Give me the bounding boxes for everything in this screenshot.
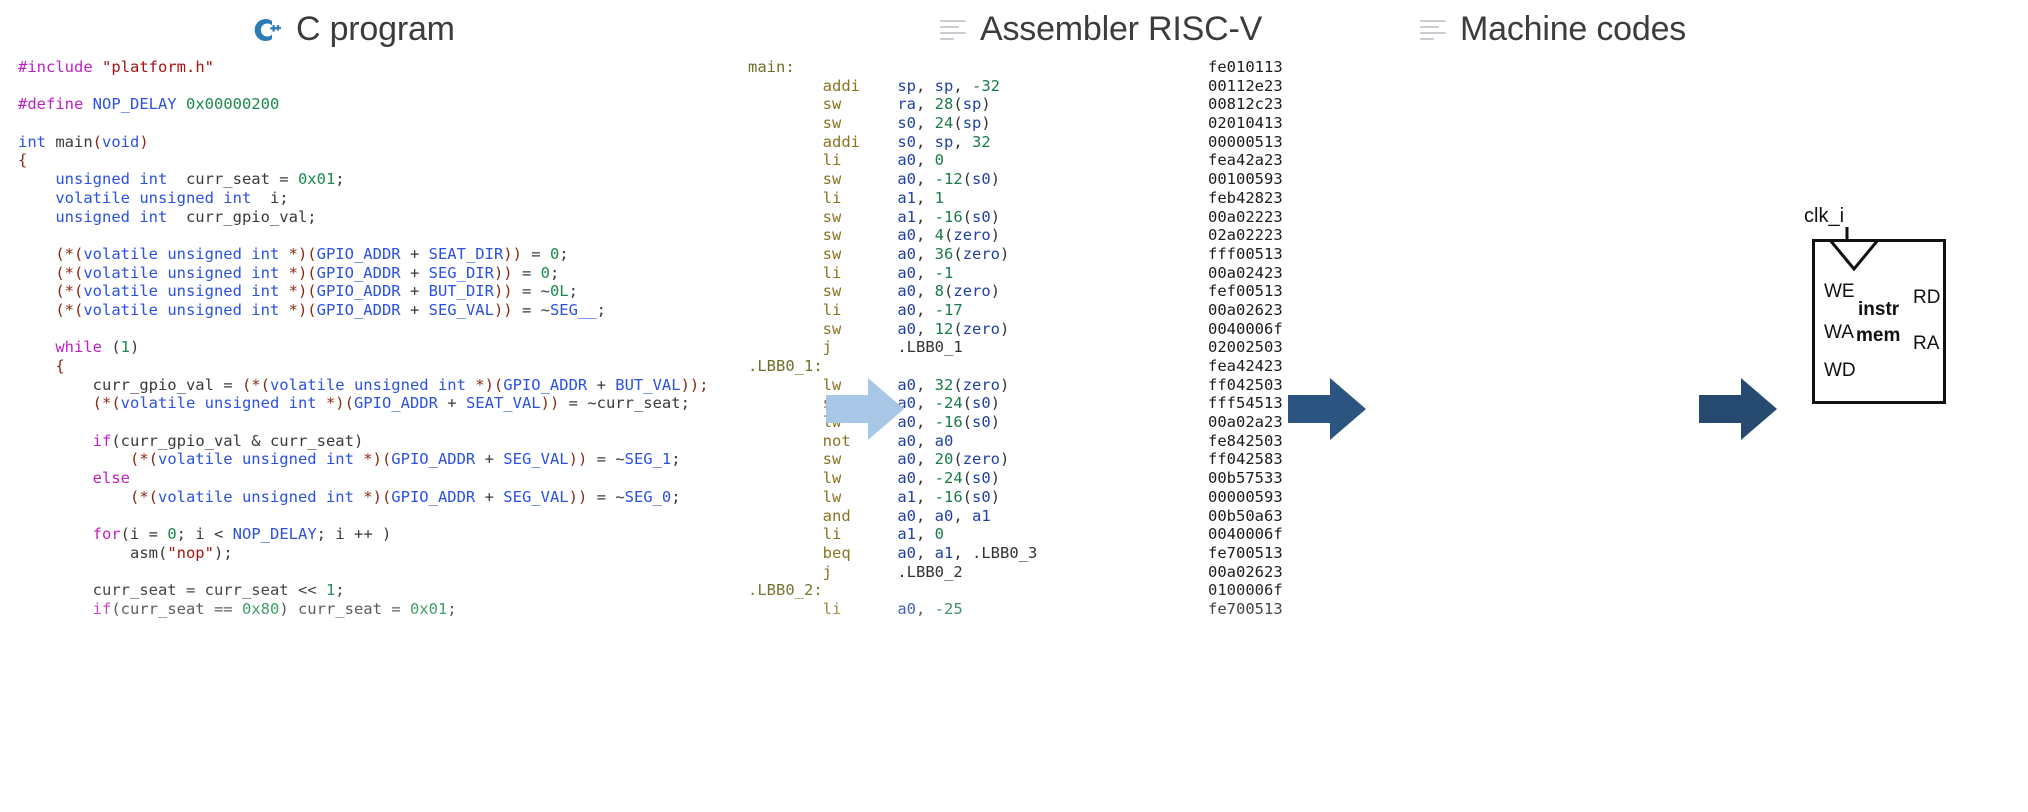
machine-code-line: fea42a23 bbox=[1208, 151, 1283, 170]
code-token: ) bbox=[991, 394, 1000, 412]
c-code-line: #define NOP_DELAY 0x00000200 bbox=[18, 95, 709, 114]
code-token: zero bbox=[953, 226, 990, 244]
code-token bbox=[18, 600, 93, 618]
c-code-line bbox=[18, 77, 709, 96]
code-token: { bbox=[18, 151, 27, 169]
code-token bbox=[18, 264, 55, 282]
c-code-line: (*(volatile unsigned int *)(GPIO_ADDR + … bbox=[18, 394, 709, 413]
code-token: ) bbox=[991, 226, 1000, 244]
code-token: ( bbox=[963, 394, 972, 412]
code-token: 24 bbox=[935, 114, 954, 132]
code-token: (*( bbox=[55, 282, 83, 300]
code-token: for bbox=[93, 525, 121, 543]
code-token: GPIO_ADDR bbox=[391, 450, 475, 468]
code-token: curr_gpio_val = bbox=[18, 376, 242, 394]
c-code-line: for(i = 0; i < NOP_DELAY; i ++ ) bbox=[18, 525, 709, 544]
code-token: 32 bbox=[972, 133, 991, 151]
code-token: sw bbox=[823, 170, 842, 188]
asm-code-line: lw a0, -24(s0) bbox=[748, 469, 1037, 488]
machine-code-line: 00b50a63 bbox=[1208, 507, 1283, 526]
machine-code-line: 02a02223 bbox=[1208, 226, 1283, 245]
code-token: 0 bbox=[167, 525, 176, 543]
code-token: and bbox=[823, 507, 851, 525]
code-token: a1 bbox=[897, 488, 916, 506]
code-token: ( bbox=[953, 95, 962, 113]
header-assembler: Assembler RISC-V bbox=[940, 10, 1262, 49]
code-token: *)( bbox=[354, 450, 391, 468]
code-token: , bbox=[916, 95, 935, 113]
code-token: -16 bbox=[935, 413, 963, 431]
code-token bbox=[841, 301, 897, 319]
code-token bbox=[748, 525, 823, 543]
code-token: sw bbox=[823, 282, 842, 300]
code-token: j bbox=[823, 563, 832, 581]
code-token: .LBB0_3 bbox=[972, 544, 1037, 562]
code-token: *)( bbox=[279, 282, 316, 300]
code-token: if bbox=[93, 600, 112, 618]
code-token: , bbox=[916, 151, 935, 169]
code-token: sw bbox=[823, 226, 842, 244]
header-c-program: C program bbox=[252, 10, 455, 49]
header-title-machine: Machine codes bbox=[1460, 10, 1686, 49]
pin-rd: RD bbox=[1913, 287, 1940, 309]
code-token: ; i < bbox=[177, 525, 233, 543]
code-token: -24 bbox=[935, 394, 963, 412]
c-code-line: while (1) bbox=[18, 338, 709, 357]
c-code-line: unsigned int curr_gpio_val; bbox=[18, 208, 709, 227]
code-token: )) bbox=[494, 264, 513, 282]
c-code-line bbox=[18, 320, 709, 339]
code-token: unsigned int bbox=[55, 170, 167, 188]
code-token: void bbox=[102, 133, 139, 151]
code-token: , bbox=[916, 282, 935, 300]
code-token bbox=[748, 245, 823, 263]
code-token: li bbox=[823, 189, 842, 207]
assembler-source-pane: main: addi sp, sp, -32 sw ra, 28(sp) sw … bbox=[748, 58, 1037, 619]
code-token: 0x00000200 bbox=[186, 95, 279, 113]
code-token: + bbox=[401, 282, 429, 300]
code-token: )) bbox=[569, 450, 588, 468]
code-token: , bbox=[916, 413, 935, 431]
c-code-line bbox=[18, 413, 709, 432]
code-token bbox=[748, 413, 823, 431]
c-code-line: unsigned int curr_seat = 0x01; bbox=[18, 170, 709, 189]
c-code-line bbox=[18, 226, 709, 245]
header-title-c: C program bbox=[296, 10, 455, 49]
code-token: ( bbox=[953, 245, 962, 263]
code-token: , bbox=[953, 544, 972, 562]
c-code-line: (*(volatile unsigned int *)(GPIO_ADDR + … bbox=[18, 301, 709, 320]
code-token: )) bbox=[494, 301, 513, 319]
code-token: GPIO_ADDR bbox=[317, 245, 401, 263]
c-code-line: int main(void) bbox=[18, 133, 709, 152]
machine-code-line: 00a02623 bbox=[1208, 563, 1283, 582]
code-token: GPIO_ADDR bbox=[391, 488, 475, 506]
c-code-line: (*(volatile unsigned int *)(GPIO_ADDR + … bbox=[18, 245, 709, 264]
code-token: s0 bbox=[897, 114, 916, 132]
asm-code-line: sw s0, 24(sp) bbox=[748, 114, 1037, 133]
memory-block-title-line2: mem bbox=[1856, 326, 1900, 346]
code-token bbox=[748, 469, 823, 487]
code-token bbox=[851, 544, 898, 562]
code-token: volatile unsigned int bbox=[121, 394, 317, 412]
code-token bbox=[841, 208, 897, 226]
machine-code-line: fe842503 bbox=[1208, 432, 1283, 451]
code-token: volatile unsigned int bbox=[83, 301, 279, 319]
code-token: curr_seat = curr_seat << bbox=[18, 581, 326, 599]
code-token: ; bbox=[671, 488, 680, 506]
code-token: -32 bbox=[972, 77, 1000, 95]
code-token bbox=[748, 563, 823, 581]
code-token: a1 bbox=[897, 189, 916, 207]
code-token: )); bbox=[681, 376, 709, 394]
code-token: s0 bbox=[972, 469, 991, 487]
code-token: , bbox=[916, 376, 935, 394]
code-token: (*( bbox=[242, 376, 270, 394]
code-token: ) bbox=[139, 133, 148, 151]
code-token: 0 bbox=[541, 264, 550, 282]
code-token: (i = bbox=[121, 525, 168, 543]
code-token: -24 bbox=[935, 469, 963, 487]
code-token: GPIO_ADDR bbox=[503, 376, 587, 394]
code-token: s0 bbox=[972, 488, 991, 506]
code-token: , bbox=[916, 432, 935, 450]
code-token: s0 bbox=[972, 413, 991, 431]
code-token: i; bbox=[251, 189, 288, 207]
c-code-line: else bbox=[18, 469, 709, 488]
code-token: zero bbox=[963, 320, 1000, 338]
code-token: *)( bbox=[317, 394, 354, 412]
code-token: sw bbox=[823, 208, 842, 226]
code-token: )) bbox=[503, 245, 522, 263]
code-token: , bbox=[916, 208, 935, 226]
code-token: , bbox=[916, 189, 935, 207]
code-token: sw bbox=[823, 245, 842, 263]
code-token: ; bbox=[559, 245, 568, 263]
code-token: ( bbox=[953, 114, 962, 132]
arrow-asm-to-machine bbox=[1288, 378, 1366, 440]
code-token: , bbox=[916, 77, 935, 95]
code-token: .LBB0_1 bbox=[897, 338, 962, 356]
machine-code-line: fe700513 bbox=[1208, 544, 1283, 563]
code-token: (*( bbox=[55, 245, 83, 263]
code-token: BUT_VAL bbox=[615, 376, 680, 394]
code-token: SEAT_DIR bbox=[429, 245, 504, 263]
code-token: ; bbox=[550, 264, 559, 282]
code-token: , bbox=[916, 133, 935, 151]
code-token bbox=[841, 245, 897, 263]
code-token: 0 bbox=[935, 525, 944, 543]
code-token: sp bbox=[935, 77, 954, 95]
instruction-memory-block: clk_i WE WA WD RD RA instr mem bbox=[1812, 205, 2002, 415]
code-token: + bbox=[587, 376, 615, 394]
asm-code-line: sw a0, 36(zero) bbox=[748, 245, 1037, 264]
machine-code-line: ff042503 bbox=[1208, 376, 1283, 395]
code-token: -16 bbox=[935, 208, 963, 226]
code-token: (*( bbox=[130, 488, 158, 506]
c-code-line: (*(volatile unsigned int *)(GPIO_ADDR + … bbox=[18, 282, 709, 301]
code-token: 0L bbox=[550, 282, 569, 300]
code-token: if bbox=[93, 432, 112, 450]
code-token: curr_gpio_val; bbox=[167, 208, 316, 226]
code-token: sw bbox=[823, 95, 842, 113]
c-code-line: (*(volatile unsigned int *)(GPIO_ADDR + … bbox=[18, 450, 709, 469]
text-lines-icon bbox=[1420, 17, 1446, 43]
header-machine-codes: Machine codes bbox=[1420, 10, 1686, 49]
code-token: = ~curr_seat; bbox=[559, 394, 690, 412]
code-token: SEG__ bbox=[550, 301, 597, 319]
code-token: + bbox=[475, 488, 503, 506]
code-token: = bbox=[513, 264, 541, 282]
code-token: unsigned int bbox=[55, 208, 167, 226]
machine-code-line: 00112e23 bbox=[1208, 77, 1283, 96]
code-token: , bbox=[916, 525, 935, 543]
code-token: , bbox=[916, 600, 935, 618]
machine-code-line: 0040006f bbox=[1208, 320, 1283, 339]
code-token: -12 bbox=[935, 170, 963, 188]
code-token: SEG_VAL bbox=[503, 488, 568, 506]
code-token: a0 bbox=[897, 450, 916, 468]
code-token: (*( bbox=[55, 301, 83, 319]
code-token: (curr_seat == bbox=[111, 600, 242, 618]
code-token: *)( bbox=[279, 264, 316, 282]
code-token: 0x01 bbox=[298, 170, 335, 188]
code-token: volatile unsigned int bbox=[158, 450, 354, 468]
code-token bbox=[18, 469, 93, 487]
code-token: , bbox=[916, 507, 935, 525]
code-token bbox=[18, 208, 55, 226]
code-token bbox=[748, 282, 823, 300]
code-token bbox=[832, 563, 897, 581]
code-token bbox=[18, 394, 93, 412]
code-token bbox=[832, 338, 897, 356]
code-token bbox=[748, 488, 823, 506]
code-token bbox=[748, 301, 823, 319]
code-token: .LBB0_1: bbox=[748, 357, 823, 375]
code-token: , bbox=[916, 488, 935, 506]
code-token bbox=[748, 320, 823, 338]
code-token bbox=[841, 114, 897, 132]
pin-ra: RA bbox=[1913, 333, 1939, 355]
code-token: , bbox=[953, 507, 972, 525]
code-token bbox=[841, 264, 897, 282]
machine-code-line: 02002503 bbox=[1208, 338, 1283, 357]
code-token: = ~ bbox=[513, 282, 550, 300]
header-title-asm: Assembler RISC-V bbox=[980, 10, 1262, 49]
code-token: , bbox=[953, 77, 972, 95]
code-token bbox=[841, 189, 897, 207]
code-token: sp bbox=[935, 133, 954, 151]
c-code-line: volatile unsigned int i; bbox=[18, 189, 709, 208]
code-token: #define bbox=[18, 95, 93, 113]
code-token: a0 bbox=[897, 301, 916, 319]
c-code-line: if(curr_seat == 0x80) curr_seat = 0x01; bbox=[18, 600, 709, 619]
code-token: .LBB0_2 bbox=[897, 563, 962, 581]
code-token: 1 bbox=[935, 189, 944, 207]
asm-code-line: j .LBB0_1 bbox=[748, 338, 1037, 357]
code-token: ) bbox=[130, 338, 139, 356]
c-code-line: curr_gpio_val = (*(volatile unsigned int… bbox=[18, 376, 709, 395]
code-token: ) bbox=[1000, 450, 1009, 468]
code-token bbox=[748, 544, 823, 562]
code-token: li bbox=[823, 600, 842, 618]
code-token: = ~ bbox=[587, 450, 624, 468]
code-token: "nop" bbox=[167, 544, 214, 562]
code-token: , bbox=[916, 226, 935, 244]
machine-code-pane: fe01011300112e2300812c230201041300000513… bbox=[1208, 58, 1283, 619]
code-token: , bbox=[916, 320, 935, 338]
code-token: -17 bbox=[935, 301, 963, 319]
code-token bbox=[748, 394, 823, 412]
code-token: SEG_DIR bbox=[429, 264, 494, 282]
code-token: NOP_DELAY bbox=[233, 525, 317, 543]
code-token: a0 bbox=[935, 507, 954, 525]
code-token: )) bbox=[494, 282, 513, 300]
code-token: { bbox=[55, 357, 64, 375]
code-token: )) bbox=[541, 394, 560, 412]
code-token: 36 bbox=[935, 245, 954, 263]
code-token bbox=[860, 133, 897, 151]
asm-code-line: beq a0, a1, .LBB0_3 bbox=[748, 544, 1037, 563]
code-token: , bbox=[916, 170, 935, 188]
code-token: -25 bbox=[935, 600, 963, 618]
code-token: 4 bbox=[935, 226, 944, 244]
code-token: , bbox=[916, 394, 935, 412]
code-token: = ~ bbox=[513, 301, 550, 319]
code-token: ; bbox=[597, 301, 606, 319]
code-token bbox=[841, 226, 897, 244]
machine-code-line: 00b57533 bbox=[1208, 469, 1283, 488]
code-token: ( bbox=[963, 413, 972, 431]
code-token: j bbox=[823, 338, 832, 356]
code-token bbox=[860, 77, 897, 95]
code-token bbox=[748, 507, 823, 525]
c-code-line bbox=[18, 563, 709, 582]
code-token bbox=[851, 507, 898, 525]
code-token: s0 bbox=[972, 394, 991, 412]
asm-code-line: li a0, -1 bbox=[748, 264, 1037, 283]
code-token: ( bbox=[102, 338, 121, 356]
code-token: ; bbox=[569, 282, 578, 300]
arrow-c-to-asm bbox=[826, 378, 904, 440]
asm-code-line: .LBB0_2: bbox=[748, 581, 1037, 600]
code-token: ) bbox=[1000, 245, 1009, 263]
code-token bbox=[748, 208, 823, 226]
code-token: a0 bbox=[897, 320, 916, 338]
code-token: SEG_0 bbox=[625, 488, 672, 506]
code-token: a1 bbox=[897, 525, 916, 543]
code-token: s0 bbox=[972, 208, 991, 226]
asm-code-line: li a0, -25 bbox=[748, 600, 1037, 619]
code-token: ( bbox=[963, 170, 972, 188]
code-token: ) curr_seat = bbox=[279, 600, 410, 618]
slide-canvas: C program Assembler RISC-V Machine codes… bbox=[0, 0, 2028, 812]
c-code-line: { bbox=[18, 357, 709, 376]
code-token bbox=[748, 77, 823, 95]
code-token: *)( bbox=[466, 376, 503, 394]
code-token: , bbox=[916, 544, 935, 562]
code-token: ( bbox=[963, 469, 972, 487]
code-token: 12 bbox=[935, 320, 954, 338]
code-token bbox=[841, 488, 897, 506]
machine-code-line: 0100006f bbox=[1208, 581, 1283, 600]
code-token bbox=[18, 450, 130, 468]
code-token bbox=[748, 189, 823, 207]
code-token: #include bbox=[18, 58, 102, 76]
c-code-line: (*(volatile unsigned int *)(GPIO_ADDR + … bbox=[18, 488, 709, 507]
code-token bbox=[748, 600, 823, 618]
clk-input-label: clk_i bbox=[1804, 205, 1844, 228]
code-token: ; bbox=[335, 170, 344, 188]
code-token bbox=[18, 282, 55, 300]
code-token: ) bbox=[1000, 320, 1009, 338]
code-token: *)( bbox=[354, 488, 391, 506]
code-token bbox=[177, 95, 186, 113]
pin-wd: WD bbox=[1824, 360, 1856, 382]
code-token: + bbox=[438, 394, 466, 412]
asm-code-line: .LBB0_1: bbox=[748, 357, 1037, 376]
c-source-pane: #include "platform.h" #define NOP_DELAY … bbox=[18, 58, 709, 619]
code-token: , bbox=[916, 264, 935, 282]
code-token: int bbox=[18, 133, 46, 151]
code-token bbox=[841, 95, 897, 113]
code-token bbox=[841, 600, 897, 618]
code-token: curr_seat = bbox=[167, 170, 298, 188]
code-token: 0x01 bbox=[410, 600, 447, 618]
code-token: 28 bbox=[935, 95, 954, 113]
code-token: 0 bbox=[550, 245, 559, 263]
code-token bbox=[748, 450, 823, 468]
asm-code-line: and a0, a0, a1 bbox=[748, 507, 1037, 526]
clock-triangle-icon bbox=[1826, 239, 1886, 273]
code-token: + bbox=[401, 301, 429, 319]
code-token bbox=[748, 170, 823, 188]
asm-code-line: sw a0, 12(zero) bbox=[748, 320, 1037, 339]
code-token: = bbox=[522, 245, 550, 263]
c-code-line: curr_seat = curr_seat << 1; bbox=[18, 581, 709, 600]
code-token: 0 bbox=[935, 151, 944, 169]
code-token: sp bbox=[963, 114, 982, 132]
arrow-machine-to-memory bbox=[1699, 378, 1777, 440]
machine-code-line: fe010113 bbox=[1208, 58, 1283, 77]
machine-code-line: 00000593 bbox=[1208, 488, 1283, 507]
cpp-logo-icon bbox=[252, 15, 282, 45]
code-token: volatile unsigned int bbox=[83, 264, 279, 282]
machine-code-line: 00a02623 bbox=[1208, 301, 1283, 320]
code-token bbox=[18, 488, 130, 506]
text-lines-icon bbox=[940, 17, 966, 43]
code-token: a0 bbox=[897, 264, 916, 282]
code-token: ) bbox=[1000, 376, 1009, 394]
code-token: a0 bbox=[897, 544, 916, 562]
machine-code-line: feb42823 bbox=[1208, 189, 1283, 208]
asm-code-line: li a0, 0 bbox=[748, 151, 1037, 170]
code-token bbox=[18, 301, 55, 319]
code-token: ( bbox=[953, 450, 962, 468]
code-token: NOP_DELAY bbox=[93, 95, 177, 113]
code-token: , bbox=[916, 245, 935, 263]
code-token: a0 bbox=[897, 170, 916, 188]
code-token: lw bbox=[823, 469, 842, 487]
code-token bbox=[18, 170, 55, 188]
code-token: SEG_VAL bbox=[429, 301, 494, 319]
code-token: else bbox=[93, 469, 130, 487]
code-token: addi bbox=[823, 77, 860, 95]
code-token: SEG_1 bbox=[625, 450, 672, 468]
code-token: SEAT_VAL bbox=[466, 394, 541, 412]
code-token: 8 bbox=[935, 282, 944, 300]
code-token: , bbox=[953, 133, 972, 151]
